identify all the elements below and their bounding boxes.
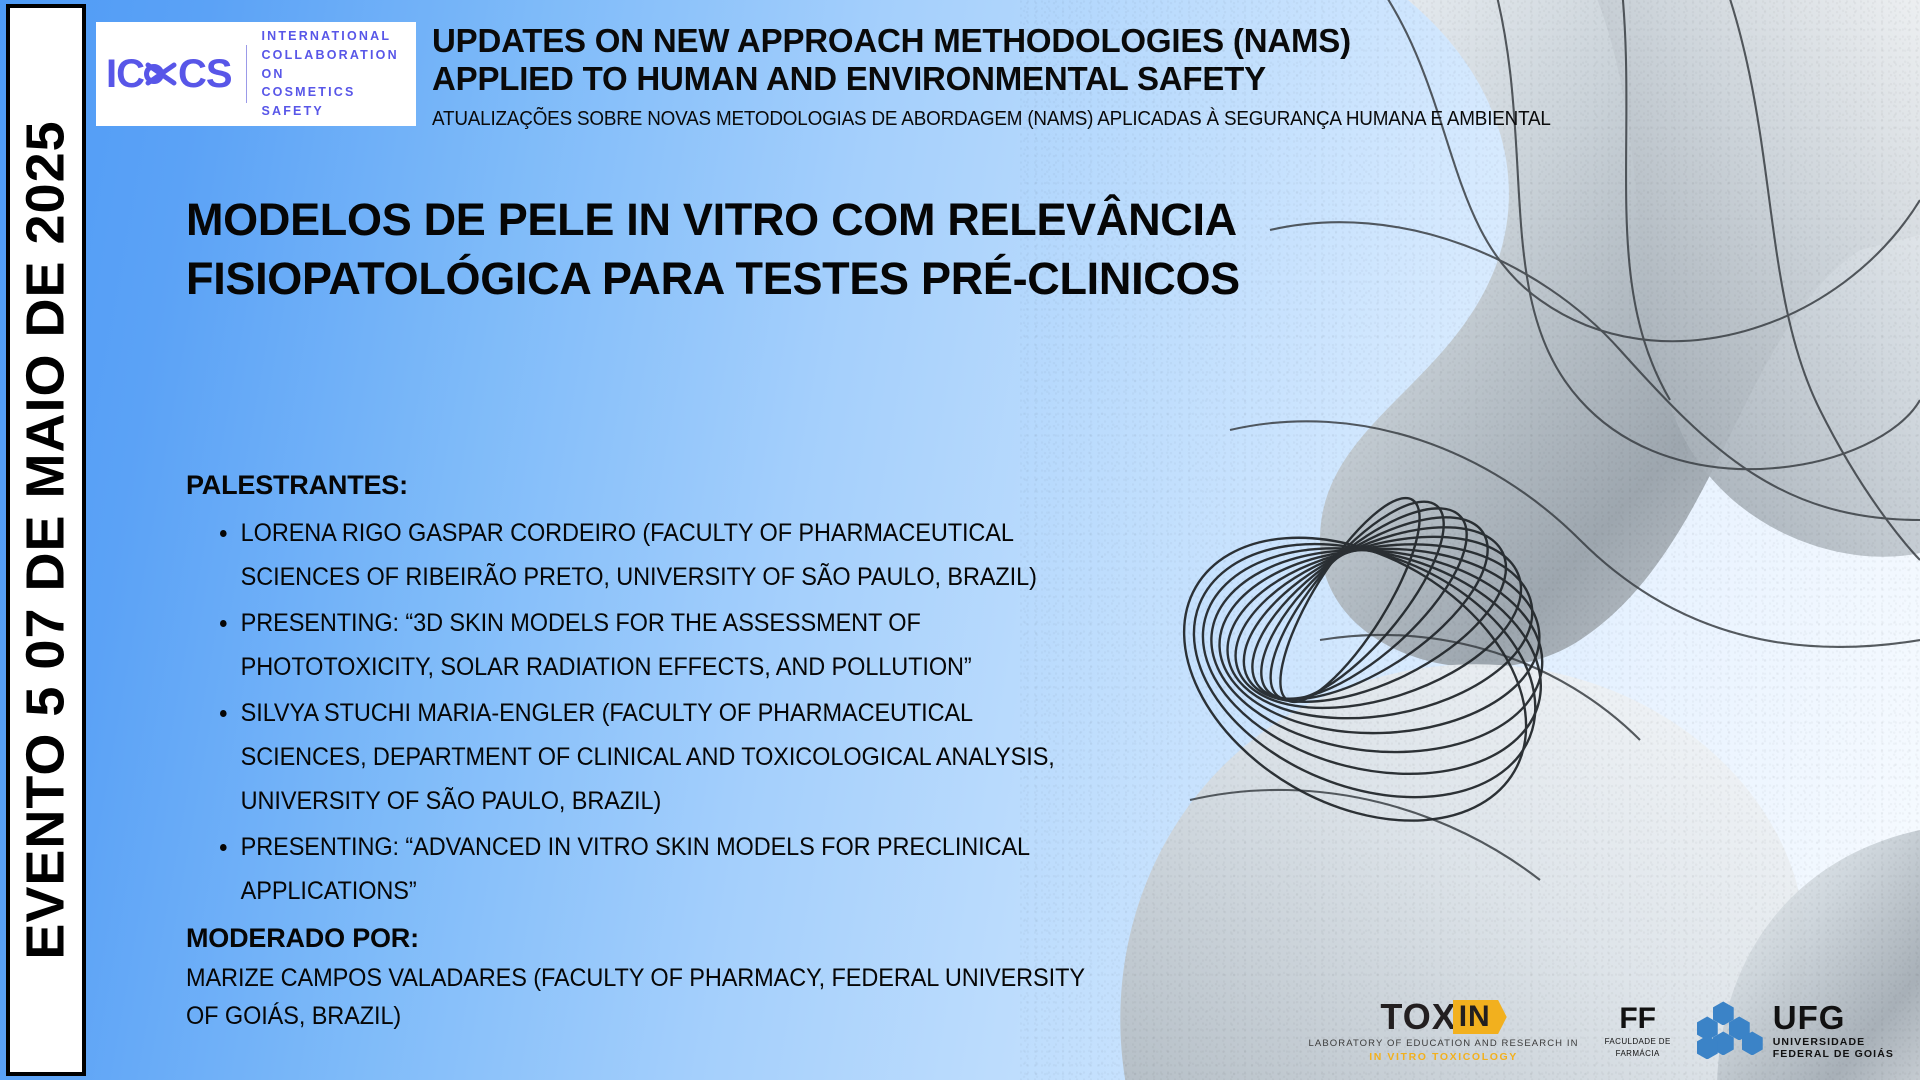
partner-logos: TOX IN LABORATORY OF EDUCATION AND RESEA… bbox=[1309, 999, 1895, 1062]
event-poster: EVENTO 5 07 DE MAIO DE 2025 IC CS INTERN… bbox=[0, 0, 1920, 1080]
abstract-blob-graphic bbox=[1020, 0, 1920, 1080]
wireframe-spiral bbox=[1134, 478, 1577, 879]
header-title-line-1: UPDATES ON NEW APPROACH METHODOLOGIES (N… bbox=[432, 22, 1432, 60]
speakers-heading: PALESTRANTES: bbox=[186, 470, 1146, 501]
header-block: UPDATES ON NEW APPROACH METHODOLOGIES (N… bbox=[432, 22, 1432, 131]
ff-wordmark: FF bbox=[1619, 1002, 1656, 1035]
header-subtitle-portuguese: ATUALIZAÇÕES SOBRE NOVAS METODOLOGIAS DE… bbox=[432, 107, 1352, 131]
page-title: MODELOS DE PELE IN VITRO COM RELEVÂNCIA … bbox=[186, 190, 1306, 309]
ff-logo: FF FACULDADE DE FARMÁCIA bbox=[1605, 1002, 1671, 1059]
grain-texture bbox=[1020, 0, 1920, 1080]
iccs-wordmark: IC CS bbox=[106, 54, 232, 94]
infinity-icon bbox=[144, 59, 178, 89]
toxin-word-main: TOX bbox=[1380, 999, 1456, 1035]
header-title: UPDATES ON NEW APPROACH METHODOLOGIES (N… bbox=[432, 22, 1432, 99]
ff-line-1: FACULDADE DE bbox=[1605, 1038, 1671, 1047]
list-item: SILVYA STUCHI MARIA-ENGLER (FACULTY OF P… bbox=[220, 691, 1090, 823]
event-date-rail: EVENTO 5 07 DE MAIO DE 2025 bbox=[6, 4, 86, 1076]
moderator-name: MARIZE CAMPOS VALADARES (FACULTY OF PHAR… bbox=[186, 960, 1088, 1035]
list-item: LORENA RIGO GASPAR CORDEIRO (FACULTY OF … bbox=[220, 511, 1090, 599]
toxin-tagline-1: LABORATORY OF EDUCATION AND RESEARCH IN bbox=[1309, 1039, 1579, 1049]
main-title-line-2: FISIOPATOLÓGICA PARA TESTES PRÉ-CLINICOS bbox=[186, 249, 1306, 308]
iccs-name-line-3: COSMETICS SAFETY bbox=[261, 83, 416, 121]
toxin-wordmark: TOX IN bbox=[1380, 999, 1506, 1035]
event-date-label: EVENTO 5 07 DE MAIO DE 2025 bbox=[19, 120, 73, 959]
ufg-logo: UFG UNIVERSIDADE FEDERAL DE GOIÁS bbox=[1697, 1000, 1894, 1060]
details-block: PALESTRANTES: LORENA RIGO GASPAR CORDEIR… bbox=[186, 470, 1146, 1035]
iccs-mark-left: IC bbox=[106, 54, 144, 94]
iccs-name-line-1: INTERNATIONAL bbox=[261, 27, 416, 46]
moderator-heading: MODERADO POR: bbox=[186, 923, 1146, 954]
list-item: PRESENTING: “ADVANCED IN VITRO SKIN MODE… bbox=[220, 825, 1090, 913]
contour-lines bbox=[1190, 0, 1920, 880]
toxin-logo: TOX IN LABORATORY OF EDUCATION AND RESEA… bbox=[1309, 999, 1579, 1062]
iccs-logo: IC CS INTERNATIONAL COLLABORATION ON COS… bbox=[96, 22, 416, 126]
toxin-arrow-badge: IN bbox=[1453, 1000, 1507, 1034]
ff-line-2: FARMÁCIA bbox=[1616, 1050, 1660, 1059]
toxin-tagline-2: IN VITRO TOXICOLOGY bbox=[1369, 1052, 1518, 1063]
iccs-full-name: INTERNATIONAL COLLABORATION ON COSMETICS… bbox=[261, 27, 416, 121]
list-item: PRESENTING: “3D SKIN MODELS FOR THE ASSE… bbox=[220, 601, 1090, 689]
ufg-wordmark: UFG UNIVERSIDADE FEDERAL DE GOIÁS bbox=[1773, 1000, 1894, 1060]
iccs-mark-right: CS bbox=[178, 54, 232, 94]
hexagon-cluster-icon bbox=[1697, 1001, 1763, 1059]
blob-right-column bbox=[1580, 0, 1920, 557]
logo-divider bbox=[246, 45, 248, 103]
header-title-line-2: APPLIED TO HUMAN AND ENVIRONMENTAL SAFET… bbox=[432, 60, 1432, 98]
ufg-line-2: FEDERAL DE GOIÁS bbox=[1773, 1049, 1894, 1061]
speakers-list: LORENA RIGO GASPAR CORDEIRO (FACULTY OF … bbox=[186, 511, 1146, 913]
iccs-name-line-2: COLLABORATION ON bbox=[261, 46, 416, 84]
ufg-acronym: UFG bbox=[1773, 1000, 1894, 1037]
main-title-line-1: MODELOS DE PELE IN VITRO COM RELEVÂNCIA bbox=[186, 190, 1306, 249]
